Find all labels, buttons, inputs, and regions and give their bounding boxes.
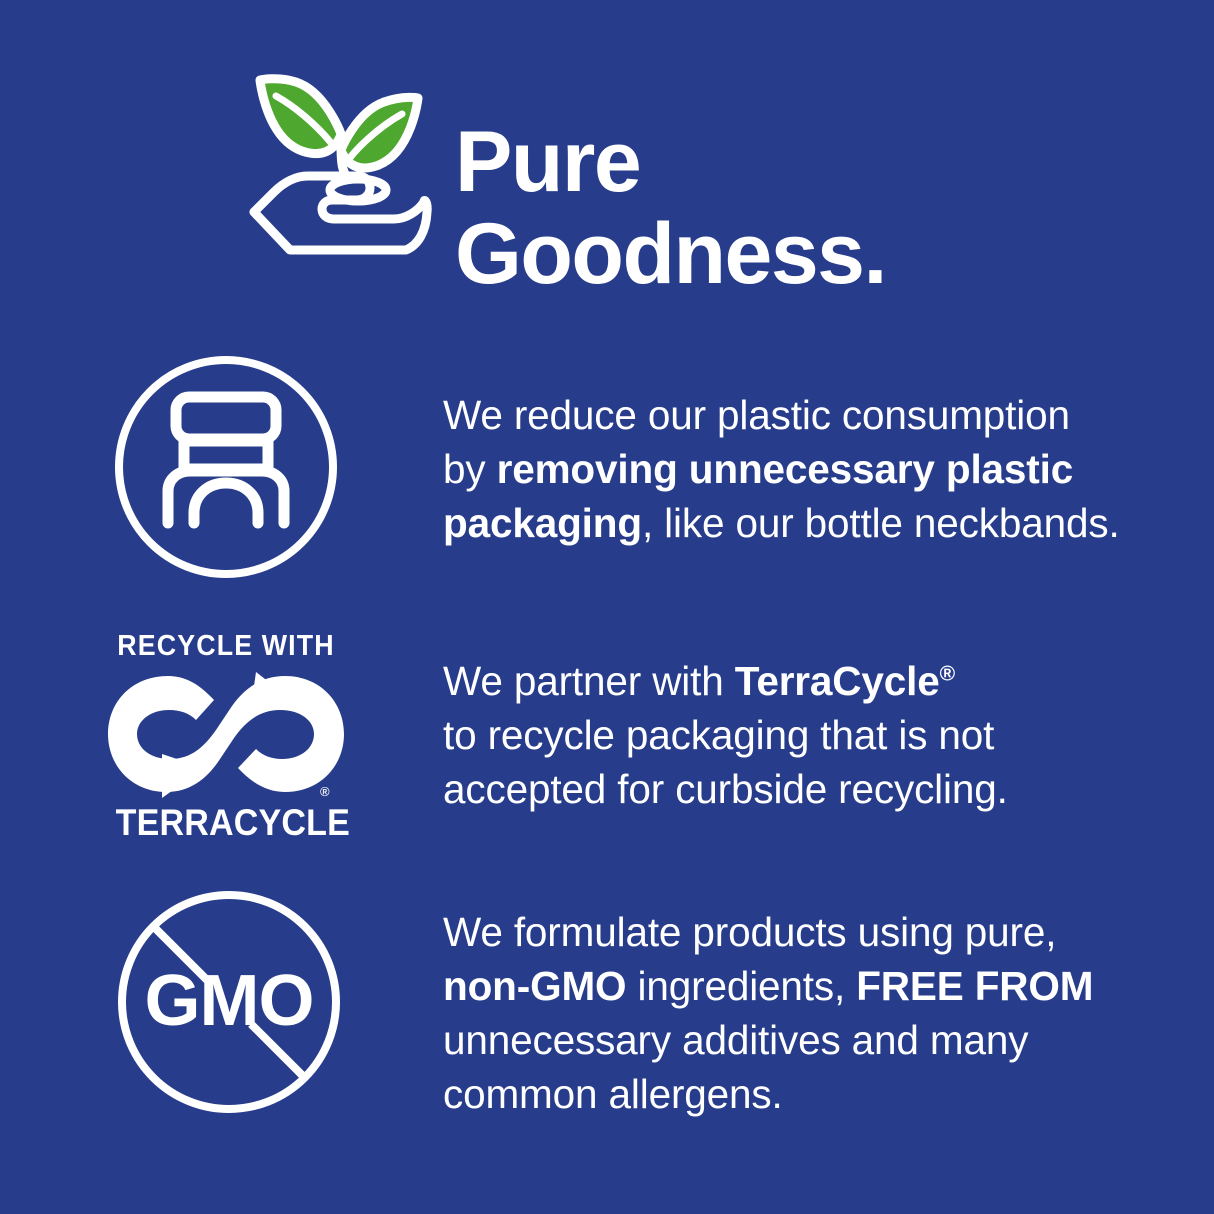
header: Pure Goodness.	[0, 0, 1214, 300]
feature-text-line: We partner with TerraCycle®	[443, 654, 1008, 708]
feature-text-line: by removing unnecessary plastic	[443, 442, 1120, 496]
terracycle-bottom-label: TERRACYCLE	[116, 802, 337, 844]
feature-text-line: accepted for curbside recycling.	[443, 762, 1008, 816]
registered-mark-icon: ®	[320, 784, 330, 799]
feature-icon-wrapper-gmo: GMO	[0, 888, 340, 1116]
feature-text-line: to recycle packaging that is not	[443, 708, 1008, 762]
bottle-neckband-icon	[112, 353, 340, 581]
feature-text-line: We reduce our plastic consumption	[443, 388, 1120, 442]
feature-text-line: non-GMO ingredients, FREE FROM	[443, 959, 1093, 1013]
gmo-label: GMO	[145, 961, 314, 1041]
feature-text-line: unnecessary additives and many	[443, 1013, 1093, 1067]
feature-text-terracycle: We partner with TerraCycle®to recycle pa…	[443, 654, 1008, 816]
no-gmo-icon: GMO	[115, 888, 343, 1116]
page-title-line-1: Pure	[455, 116, 1155, 208]
feature-icon-wrapper-terracycle: RECYCLE WITH ® TERRACYCLE	[0, 630, 340, 850]
feature-row-terracycle: RECYCLE WITH ® TERRACYCLE We partner wit…	[0, 630, 1214, 850]
page-title-line-2: Goodness.	[455, 208, 1155, 300]
feature-text-plastic: We reduce our plastic consumptionby remo…	[443, 388, 1120, 550]
pure-goodness-panel: Pure Goodness. We reduce our plast	[0, 0, 1214, 1214]
feature-icon-wrapper-plastic	[0, 353, 340, 583]
feature-text-line: We formulate products using pure,	[443, 905, 1093, 959]
infinity-recycle-arrows-icon	[106, 670, 346, 798]
page-title: Pure Goodness.	[455, 116, 1155, 300]
feature-text-line: common allergens.	[443, 1067, 1093, 1121]
feature-text-gmo: We formulate products using pure,non-GMO…	[443, 905, 1093, 1121]
feature-row-plastic: We reduce our plastic consumptionby remo…	[0, 353, 1214, 583]
terracycle-logo-icon: RECYCLE WITH ® TERRACYCLE	[106, 630, 346, 846]
feature-row-gmo: GMO We formulate products using pure,non…	[0, 888, 1214, 1121]
terracycle-top-label: RECYCLE WITH	[113, 630, 339, 663]
feature-text-line: packaging, like our bottle neckbands.	[443, 496, 1120, 550]
hand-holding-plant-icon	[246, 62, 436, 257]
